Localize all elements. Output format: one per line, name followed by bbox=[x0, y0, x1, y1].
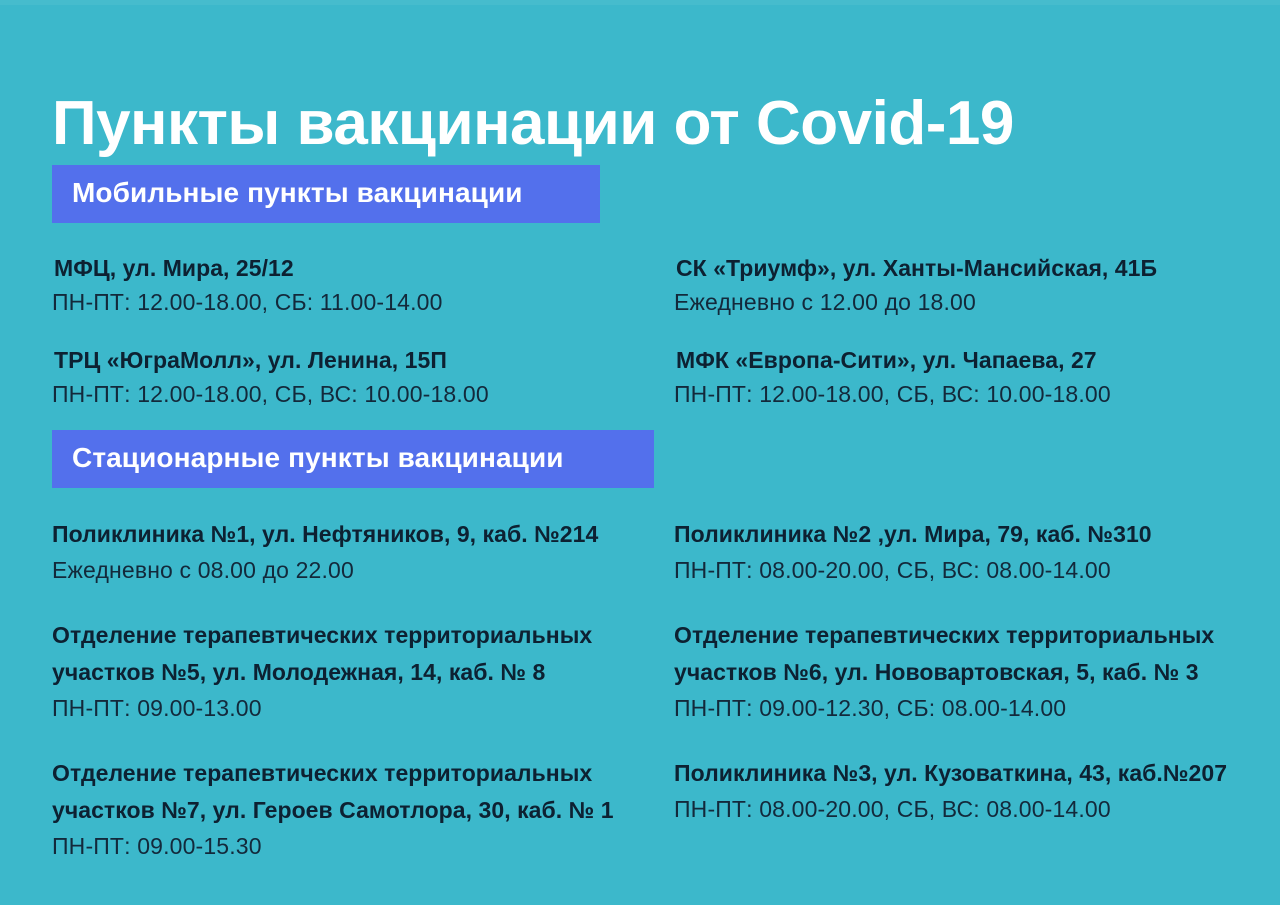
top-edge-band bbox=[0, 0, 1280, 5]
site-hours: ПН-ПТ: 09.00-13.00 bbox=[52, 691, 662, 725]
stationary-points-right-column: Поликлиника №2 ,ул. Мира, 79, каб. №310 … bbox=[662, 516, 1272, 893]
list-item: ТРЦ «ЮграМолл», ул. Ленина, 15П ПН-ПТ: 1… bbox=[52, 343, 662, 411]
vaccination-points-poster: Пункты вакцинации от Covid-19 Мобильные … bbox=[0, 0, 1280, 905]
stationary-points-columns: Поликлиника №1, ул. Нефтяников, 9, каб. … bbox=[0, 516, 1280, 893]
site-hours: Ежедневно с 12.00 до 18.00 bbox=[674, 285, 1272, 319]
site-name: ТРЦ «ЮграМолл», ул. Ленина, 15П bbox=[52, 343, 662, 377]
site-name: МФК «Европа-Сити», ул. Чапаева, 27 bbox=[674, 343, 1272, 377]
mobile-points-columns: МФЦ, ул. Мира, 25/12 ПН-ПТ: 12.00-18.00,… bbox=[0, 251, 1280, 435]
site-hours: ПН-ПТ: 12.00-18.00, СБ: 11.00-14.00 bbox=[52, 285, 662, 319]
section-header-mobile: Мобильные пункты вакцинации bbox=[52, 165, 600, 223]
site-name: МФЦ, ул. Мира, 25/12 bbox=[52, 251, 662, 285]
list-item: СК «Триумф», ул. Ханты-Мансийская, 41Б Е… bbox=[674, 251, 1272, 319]
site-name: Поликлиника №3, ул. Кузоваткина, 43, каб… bbox=[674, 755, 1272, 792]
list-item: Отделение терапевтических территориальны… bbox=[52, 755, 662, 863]
list-item: Отделение терапевтических территориальны… bbox=[674, 617, 1272, 725]
list-item: Отделение терапевтических территориальны… bbox=[52, 617, 662, 725]
list-item: Поликлиника №3, ул. Кузоваткина, 43, каб… bbox=[674, 755, 1272, 826]
page-title: Пункты вакцинации от Covid-19 bbox=[52, 88, 1014, 160]
section-mobile-points: Мобильные пункты вакцинации МФЦ, ул. Мир… bbox=[0, 165, 1280, 435]
site-hours: ПН-ПТ: 09.00-15.30 bbox=[52, 829, 662, 863]
site-hours: ПН-ПТ: 08.00-20.00, СБ, ВС: 08.00-14.00 bbox=[674, 553, 1272, 587]
list-item: МФК «Европа-Сити», ул. Чапаева, 27 ПН-ПТ… bbox=[674, 343, 1272, 411]
section-header-stationary: Стационарные пункты вакцинации bbox=[52, 430, 654, 488]
site-hours: ПН-ПТ: 12.00-18.00, СБ, ВС: 10.00-18.00 bbox=[674, 377, 1272, 411]
stationary-points-left-column: Поликлиника №1, ул. Нефтяников, 9, каб. … bbox=[52, 516, 662, 893]
site-hours: ПН-ПТ: 12.00-18.00, СБ, ВС: 10.00-18.00 bbox=[52, 377, 662, 411]
site-hours: Ежедневно с 08.00 до 22.00 bbox=[52, 553, 662, 587]
site-name: Поликлиника №1, ул. Нефтяников, 9, каб. … bbox=[52, 516, 662, 553]
site-name: Отделение терапевтических территориальны… bbox=[52, 755, 662, 829]
site-name: Отделение терапевтических территориальны… bbox=[52, 617, 662, 691]
site-hours: ПН-ПТ: 08.00-20.00, СБ, ВС: 08.00-14.00 bbox=[674, 792, 1272, 826]
list-item: Поликлиника №1, ул. Нефтяников, 9, каб. … bbox=[52, 516, 662, 587]
list-item: МФЦ, ул. Мира, 25/12 ПН-ПТ: 12.00-18.00,… bbox=[52, 251, 662, 319]
site-name: Отделение терапевтических территориальны… bbox=[674, 617, 1272, 691]
site-name: СК «Триумф», ул. Ханты-Мансийская, 41Б bbox=[674, 251, 1272, 285]
section-stationary-points: Стационарные пункты вакцинации Поликлини… bbox=[0, 430, 1280, 893]
mobile-points-right-column: СК «Триумф», ул. Ханты-Мансийская, 41Б Е… bbox=[662, 251, 1272, 435]
site-name: Поликлиника №2 ,ул. Мира, 79, каб. №310 bbox=[674, 516, 1272, 553]
list-item: Поликлиника №2 ,ул. Мира, 79, каб. №310 … bbox=[674, 516, 1272, 587]
mobile-points-left-column: МФЦ, ул. Мира, 25/12 ПН-ПТ: 12.00-18.00,… bbox=[52, 251, 662, 435]
site-hours: ПН-ПТ: 09.00-12.30, СБ: 08.00-14.00 bbox=[674, 691, 1272, 725]
